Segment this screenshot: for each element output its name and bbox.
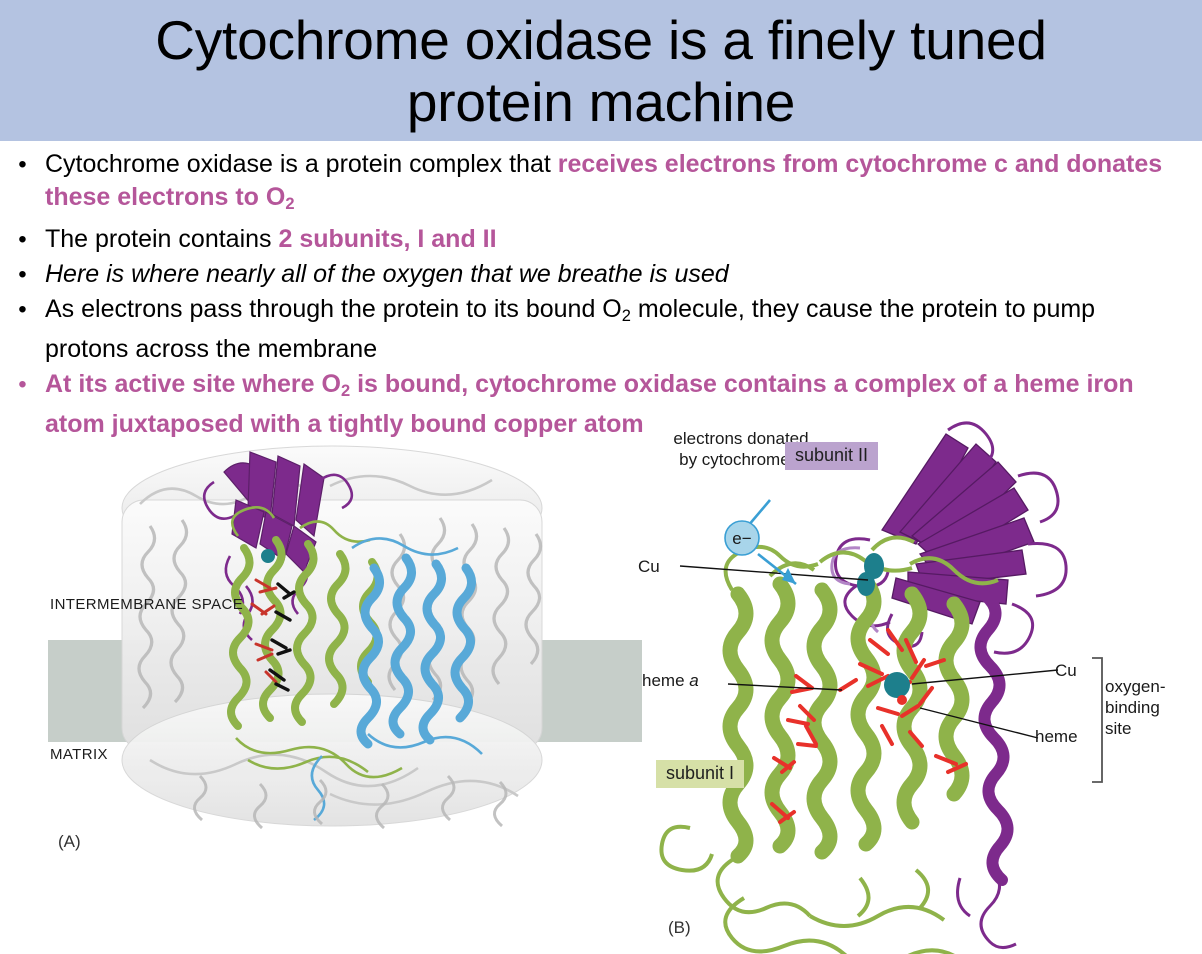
- bullet-marker: •: [0, 293, 45, 326]
- bullet-segment-accent: 2 subunits, I and II: [278, 225, 496, 253]
- bullet-list: • Cytochrome oxidase is a protein comple…: [0, 148, 1202, 443]
- intermembrane-space-label: INTERMEMBRANE SPACE: [50, 596, 243, 614]
- copper-atom-top: [864, 553, 884, 579]
- figure-b-subunit-detail: e− electrons donated by cytochrome c sub…: [620, 408, 1202, 954]
- bullet-marker: •: [0, 258, 45, 291]
- bullet-segment-subscript: 2: [622, 307, 631, 325]
- bullet-marker: •: [0, 368, 45, 401]
- list-item: • The protein contains 2 subunits, I and…: [0, 223, 1202, 256]
- cu-right-label: Cu: [1055, 660, 1077, 681]
- list-item: • As electrons pass through the protein …: [0, 293, 1202, 366]
- subunit-i-chip: subunit I: [656, 760, 744, 788]
- bullet-segment-subscript: 2: [341, 382, 350, 400]
- electron-badge-circle: [725, 521, 759, 555]
- bullet-text: As electrons pass through the protein to…: [45, 293, 1165, 366]
- bullet-segment-subscript: 2: [285, 195, 294, 213]
- bullet-segment-italic: Here is where nearly all of the oxygen t…: [45, 260, 729, 288]
- bullet-text: Here is where nearly all of the oxygen t…: [45, 258, 1165, 291]
- heme-a-label: heme a: [642, 670, 699, 691]
- panel-label-a: (A): [58, 832, 81, 852]
- list-item: • Here is where nearly all of the oxygen…: [0, 258, 1202, 291]
- list-item: • Cytochrome oxidase is a protein comple…: [0, 148, 1202, 221]
- matrix-label: MATRIX: [50, 746, 108, 764]
- copper-atom-active-site: [884, 672, 910, 698]
- oxygen-binding-site-label: oxygen-binding site: [1105, 676, 1185, 739]
- bullet-segment: The protein contains: [45, 225, 278, 253]
- panel-label-b: (B): [668, 918, 691, 938]
- bullet-marker: •: [0, 148, 45, 181]
- bullet-segment: Cytochrome oxidase is a protein complex …: [45, 150, 558, 178]
- slide-title-banner: Cytochrome oxidase is a finely tuned pro…: [0, 0, 1202, 141]
- cu-top-label: Cu: [638, 556, 660, 577]
- subunit-ii-chip: subunit II: [785, 442, 878, 470]
- bullet-marker: •: [0, 223, 45, 256]
- electron-badge-label: e−: [732, 529, 751, 548]
- bullet-segment-accent: At its active site where O: [45, 370, 341, 398]
- heme-right-label: heme: [1035, 726, 1078, 747]
- bullet-text: The protein contains 2 subunits, I and I…: [45, 223, 1165, 256]
- figures-area: INTERMEMBRANE SPACE MATRIX: [0, 408, 1202, 954]
- membrane-band: [48, 640, 642, 742]
- bullet-segment: As electrons pass through the protein to…: [45, 295, 622, 323]
- page-title: Cytochrome oxidase is a finely tuned pro…: [76, 9, 1126, 133]
- figure-a-membrane-complex: INTERMEMBRANE SPACE MATRIX: [0, 408, 660, 954]
- bullet-text: Cytochrome oxidase is a protein complex …: [45, 148, 1165, 221]
- heme-a-italic: a: [689, 671, 698, 690]
